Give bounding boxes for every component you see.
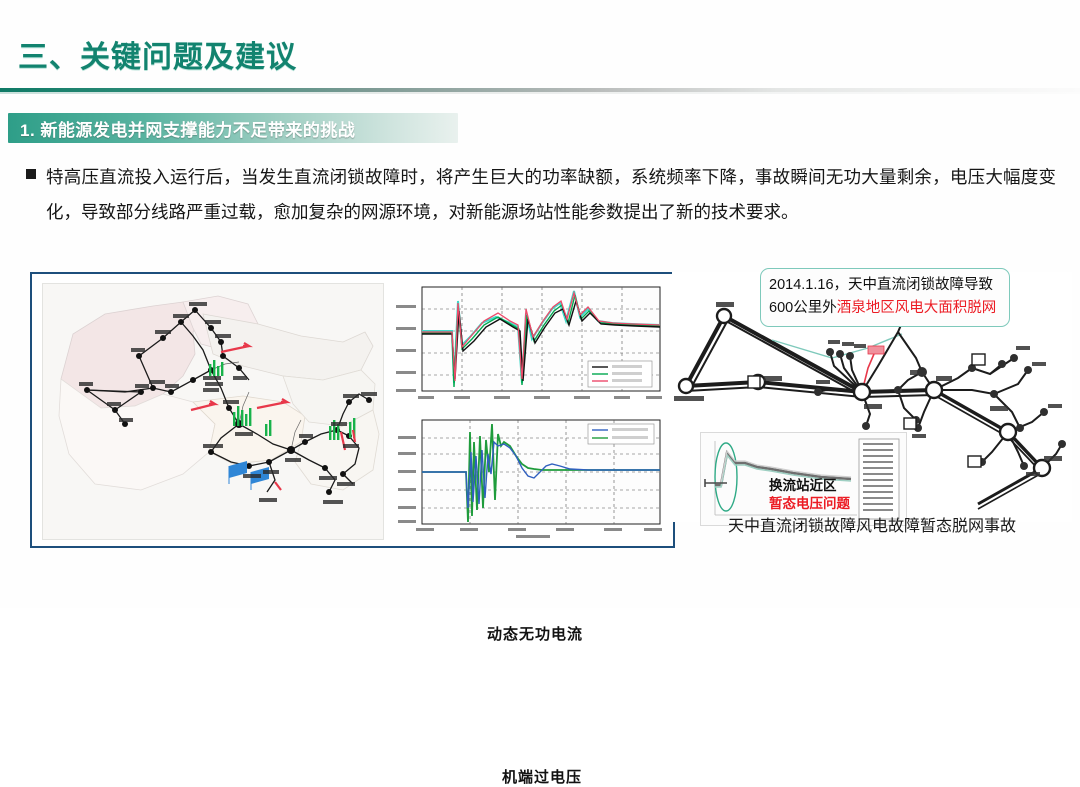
- map-svg: [43, 284, 383, 539]
- body-paragraph: 特高压直流投入运行后，当发生直流闭锁故障时，将产生巨大的功率缺额，系统频率下降，…: [46, 160, 1056, 230]
- page-title: 三、关键问题及建议: [18, 32, 297, 76]
- chart-bottom-legend: [588, 424, 654, 444]
- chart-top-caption: 动态无功电流: [487, 623, 583, 644]
- right-figure-caption: 天中直流闭锁故障风电故障暂态脱网事故: [672, 512, 1072, 536]
- square-bullet-icon: [26, 169, 36, 179]
- inset-label-primary: 换流站近区: [769, 477, 850, 495]
- body-bullet-block: 特高压直流投入运行后，当发生直流闭锁故障时，将产生巨大的功率缺额，系统频率下降，…: [26, 160, 1056, 230]
- title-divider-secondary: [0, 92, 1080, 94]
- chart-bottom-caption: 机端过电压: [502, 766, 582, 787]
- callout-fault-description: 2014.1.16，天中直流闭锁故障导致600公里外酒泉地区风电大面积脱网: [760, 268, 1010, 327]
- chart-top-svg: [392, 279, 670, 407]
- right-grid-diagram: 2014.1.16，天中直流闭锁故障导致600公里外酒泉地区风电大面积脱网: [672, 272, 1072, 522]
- callout-text-highlight: 酒泉地区风电大面积脱网: [837, 300, 997, 316]
- power-grid-geographic-map: [42, 283, 384, 540]
- slide-root: 三、关键问题及建议 1. 新能源发电并网支撑能力不足带来的挑战 特高压直流投入运…: [0, 0, 1080, 608]
- chart-dynamic-reactive-current: [392, 279, 670, 407]
- left-figure-frame: 动态无功电流: [30, 272, 675, 548]
- inset-label-highlight: 暂态电压问题: [769, 495, 850, 513]
- inset-callout-label: 换流站近区 暂态电压问题: [769, 477, 850, 513]
- section-label: 1. 新能源发电并网支撑能力不足带来的挑战: [20, 116, 355, 141]
- chart-terminal-overvoltage: [392, 412, 670, 543]
- chart-top-legend: [588, 361, 652, 387]
- section-band: 1. 新能源发电并网支撑能力不足带来的挑战: [8, 113, 458, 143]
- chart-bottom-svg: [392, 412, 670, 543]
